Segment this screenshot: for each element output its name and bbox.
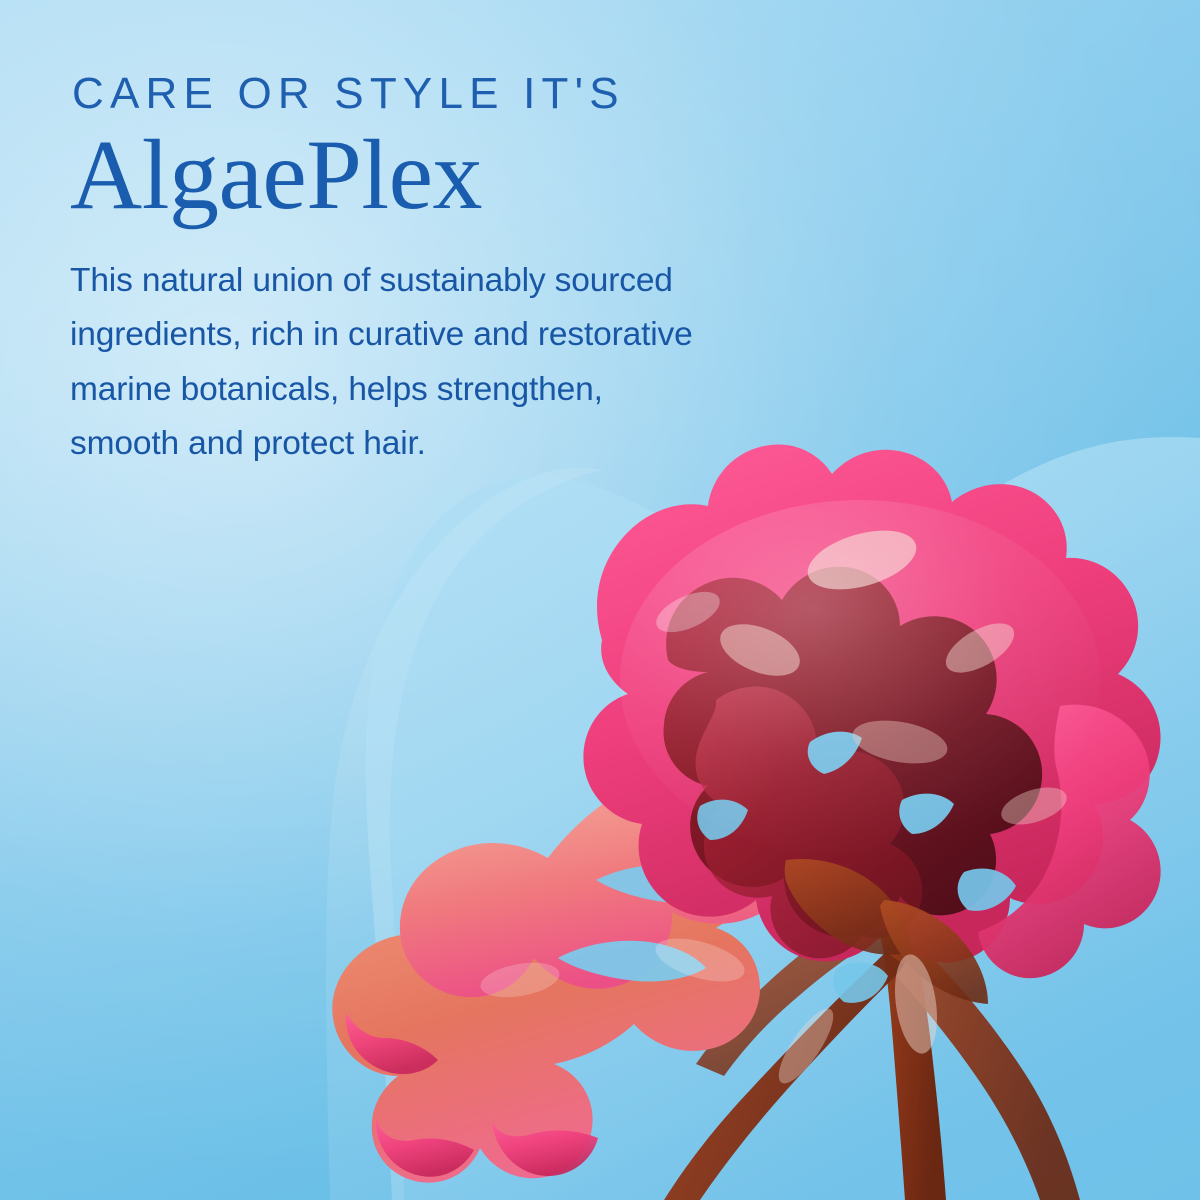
seaweed-main-stem xyxy=(876,906,946,1200)
seaweed-tip-pink-c xyxy=(492,1120,598,1176)
promo-canvas: CARE OR STYLE IT'S AlgaePlex This natura… xyxy=(0,0,1200,1200)
seaweed-crown-base-rust xyxy=(785,859,912,955)
copy-block: CARE OR STYLE IT'S AlgaePlex This natura… xyxy=(70,72,900,471)
seaweed-highlights xyxy=(478,520,1071,1091)
seaweed-stem-fork xyxy=(696,912,884,1076)
seaweed-lower-left-fan xyxy=(332,880,762,1183)
seaweed-tip-pink-b xyxy=(376,1118,474,1177)
seaweed-tip-pink-a xyxy=(346,1012,438,1074)
page-title: AlgaePlex xyxy=(70,122,900,228)
wave-blob-shape xyxy=(366,437,1200,1200)
seaweed-notch-b xyxy=(558,941,706,982)
body-line-3: marine botanicals, helps strengthen, xyxy=(70,363,860,417)
seaweed-right-arm xyxy=(978,705,1161,979)
wave-blob-shoulder xyxy=(326,468,604,1200)
body-line-2: ingredients, rich in curative and restor… xyxy=(70,308,860,362)
seaweed-crown-core xyxy=(663,567,1042,938)
seaweed-gaps xyxy=(697,732,1016,1003)
seaweed-notch-a xyxy=(596,865,734,904)
seaweed-mid-left-cluster xyxy=(400,759,802,997)
seaweed-crown-base-rust-2 xyxy=(880,900,988,1004)
seaweed-lower-right-branch xyxy=(896,944,1080,1200)
seaweed-crown-sheen xyxy=(620,500,1100,860)
eyebrow-text: CARE OR STYLE IT'S xyxy=(72,72,900,116)
body-line-1: This natural union of sustainably source… xyxy=(70,254,860,308)
seaweed-crown-ruffle xyxy=(583,444,1160,962)
body-line-4: smooth and protect hair. xyxy=(70,417,860,471)
body-copy: This natural union of sustainably source… xyxy=(70,254,860,471)
seaweed-group xyxy=(332,444,1160,1200)
seaweed-lower-left-branch xyxy=(664,952,906,1200)
seaweed-crown-midtone xyxy=(696,687,923,959)
